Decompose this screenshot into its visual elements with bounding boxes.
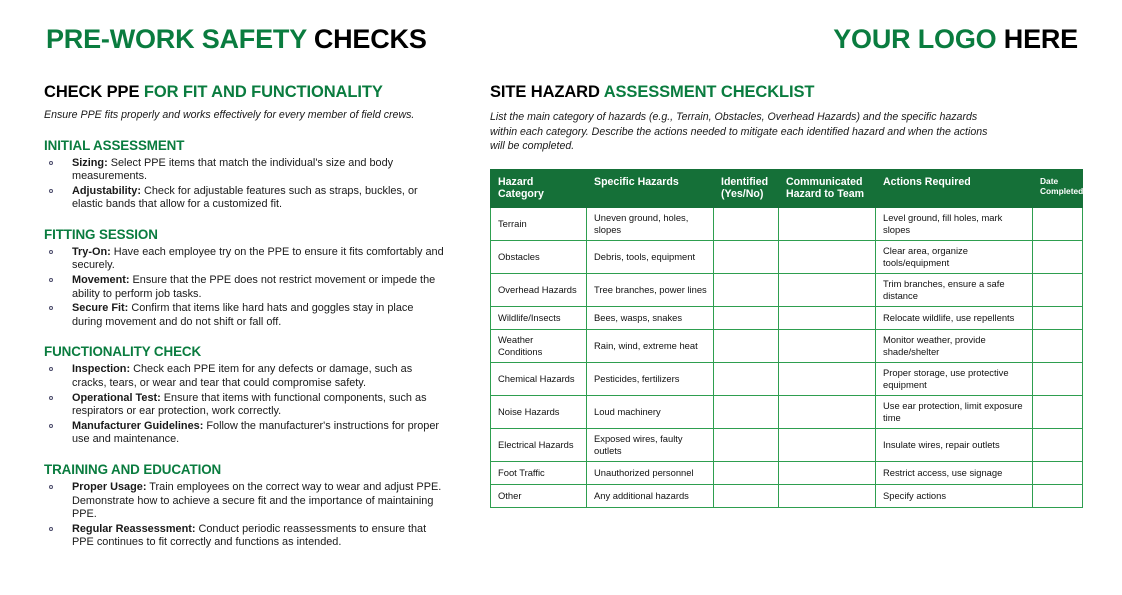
list-item-term: Sizing: [72,157,108,169]
section-initial-assessment: INITIAL ASSESSMENT Sizing: Select PPE it… [44,137,444,212]
cell-category: Other [491,484,587,507]
cell-identified[interactable] [714,273,779,306]
hazard-column-subtitle: List the main category of hazards (e.g.,… [490,110,990,154]
list-item-term: Operational Test: [72,392,161,404]
cell-actions: Level ground, fill holes, mark slopes [876,207,1033,240]
column-header-identified-line1: Identified [721,176,768,188]
cell-category: Terrain [491,207,587,240]
table-header-row: Hazard Category Specific Hazards Identif… [491,169,1083,207]
bullet-dot-icon [49,306,53,310]
list-item-term: Proper Usage: [72,481,146,493]
cell-identified[interactable] [714,240,779,273]
ppe-column-heading-black: CHECK PPE [44,83,139,101]
cell-date[interactable] [1033,329,1083,362]
cell-actions: Restrict access, use signage [876,461,1033,484]
list-item: Adjustability: Check for adjustable feat… [44,185,444,212]
column-header-identified: Identified (Yes/No) [714,169,779,207]
cell-hazards: Tree branches, power lines [587,273,714,306]
table-row: Terrain Uneven ground, holes, slopes Lev… [491,207,1083,240]
column-header-date-line2: Completed [1040,186,1083,196]
column-header-specific-hazards: Specific Hazards [587,169,714,207]
page-title-green: PRE-WORK SAFETY [46,24,307,54]
list-item-term: Secure Fit: [72,302,128,314]
cell-identified[interactable] [714,484,779,507]
column-header-date-completed: Date Completed [1033,169,1083,207]
column-header-hazard-category: Hazard Category [491,169,587,207]
table-row: Weather Conditions Rain, wind, extreme h… [491,329,1083,362]
cell-category: Noise Hazards [491,395,587,428]
section-title: FITTING SESSION [44,226,444,243]
cell-date[interactable] [1033,207,1083,240]
section-title: FUNCTIONALITY CHECK [44,343,444,360]
bullet-dot-icon [49,250,53,254]
cell-identified[interactable] [714,306,779,329]
bullet-dot-icon [49,485,53,489]
cell-communicated[interactable] [779,395,876,428]
hazard-assessment-table: Hazard Category Specific Hazards Identif… [490,169,1083,508]
cell-communicated[interactable] [779,362,876,395]
hazard-column-heading-black: SITE HAZARD [490,83,600,101]
bullet-list: Try-On: Have each employee try on the PP… [44,246,444,330]
ppe-column-subtitle: Ensure PPE fits properly and works effec… [44,108,444,123]
table-row: Wildlife/Insects Bees, wasps, snakes Rel… [491,306,1083,329]
cell-communicated[interactable] [779,273,876,306]
cell-date[interactable] [1033,395,1083,428]
bullet-dot-icon [49,527,53,531]
list-item: Regular Reassessment: Conduct periodic r… [44,523,444,550]
list-item: Operational Test: Ensure that items with… [44,392,444,419]
column-header-communicated-line1: Communicated [786,176,863,188]
bullet-dot-icon [49,424,53,428]
cell-identified[interactable] [714,461,779,484]
bullet-dot-icon [49,278,53,282]
cell-category: Chemical Hazards [491,362,587,395]
cell-communicated[interactable] [779,329,876,362]
table-row: Other Any additional hazards Specify act… [491,484,1083,507]
list-item: Manufacturer Guidelines: Follow the manu… [44,420,444,447]
cell-date[interactable] [1033,240,1083,273]
list-item: Sizing: Select PPE items that match the … [44,157,444,184]
list-item-term: Regular Reassessment: [72,523,195,535]
cell-identified[interactable] [714,428,779,461]
cell-hazards: Debris, tools, equipment [587,240,714,273]
page-title: PRE-WORK SAFETY CHECKS [46,22,427,56]
cell-category: Electrical Hazards [491,428,587,461]
cell-category: Foot Traffic [491,461,587,484]
list-item-text: Select PPE items that match the individu… [72,157,393,183]
cell-identified[interactable] [714,395,779,428]
cell-date[interactable] [1033,428,1083,461]
cell-hazards: Unauthorized personnel [587,461,714,484]
logo-placeholder-black: HERE [1004,24,1078,54]
list-item: Try-On: Have each employee try on the PP… [44,246,444,273]
table-row: Electrical Hazards Exposed wires, faulty… [491,428,1083,461]
column-header-communicated-line2: Hazard to Team [786,188,864,200]
cell-hazards: Pesticides, fertilizers [587,362,714,395]
section-training-and-education: TRAINING AND EDUCATION Proper Usage: Tra… [44,461,444,550]
table-row: Foot Traffic Unauthorized personnel Rest… [491,461,1083,484]
cell-date[interactable] [1033,306,1083,329]
column-header-actions-required: Actions Required [876,169,1033,207]
ppe-check-column: CHECK PPE FOR FIT AND FUNCTIONALITY Ensu… [44,82,444,551]
list-item-term: Adjustability: [72,185,141,197]
cell-date[interactable] [1033,273,1083,306]
cell-actions: Proper storage, use protective equipment [876,362,1033,395]
section-title: INITIAL ASSESSMENT [44,137,444,154]
bullet-dot-icon [49,396,53,400]
list-item: Movement: Ensure that the PPE does not r… [44,274,444,301]
cell-identified[interactable] [714,207,779,240]
hazard-column-heading-green: ASSESSMENT CHECKLIST [604,83,815,101]
bullet-list: Inspection: Check each PPE item for any … [44,363,444,447]
bullet-list: Sizing: Select PPE items that match the … [44,157,444,212]
cell-actions: Monitor weather, provide shade/shelter [876,329,1033,362]
cell-category: Overhead Hazards [491,273,587,306]
cell-category: Weather Conditions [491,329,587,362]
page-title-black: CHECKS [314,24,427,54]
page-banner: PRE-WORK SAFETY CHECKS YOUR LOGO HERE [0,22,1122,62]
cell-hazards: Exposed wires, faulty outlets [587,428,714,461]
bullet-dot-icon [49,189,53,193]
cell-identified[interactable] [714,362,779,395]
list-item: Proper Usage: Train employees on the cor… [44,481,444,522]
section-title: TRAINING AND EDUCATION [44,461,444,478]
cell-actions: Use ear protection, limit exposure time [876,395,1033,428]
logo-placeholder-green: YOUR LOGO [833,24,996,54]
cell-actions: Specify actions [876,484,1033,507]
cell-communicated[interactable] [779,240,876,273]
list-item-term: Inspection: [72,363,130,375]
cell-actions: Insulate wires, repair outlets [876,428,1033,461]
bullet-list: Proper Usage: Train employees on the cor… [44,481,444,550]
table-row: Obstacles Debris, tools, equipment Clear… [491,240,1083,273]
list-item-term: Movement: [72,274,129,286]
ppe-column-heading-green: FOR FIT AND FUNCTIONALITY [144,83,383,101]
cell-date[interactable] [1033,362,1083,395]
hazard-column-heading: SITE HAZARD ASSESSMENT CHECKLIST [490,82,1086,102]
cell-hazards: Uneven ground, holes, slopes [587,207,714,240]
logo-placeholder: YOUR LOGO HERE [833,22,1078,56]
cell-communicated[interactable] [779,306,876,329]
cell-actions: Trim branches, ensure a safe distance [876,273,1033,306]
table-row: Overhead Hazards Tree branches, power li… [491,273,1083,306]
cell-actions: Relocate wildlife, use repellents [876,306,1033,329]
cell-date[interactable] [1033,484,1083,507]
list-item-text: Have each employee try on the PPE to ens… [72,246,444,272]
column-header-communicated: Communicated Hazard to Team [779,169,876,207]
cell-date[interactable] [1033,461,1083,484]
table-row: Chemical Hazards Pesticides, fertilizers… [491,362,1083,395]
table-row: Noise Hazards Loud machinery Use ear pro… [491,395,1083,428]
column-header-identified-line2: (Yes/No) [721,188,763,200]
cell-category: Wildlife/Insects [491,306,587,329]
bullet-dot-icon [49,367,53,371]
cell-communicated[interactable] [779,428,876,461]
site-hazard-column: SITE HAZARD ASSESSMENT CHECKLIST List th… [490,82,1086,508]
cell-hazards: Any additional hazards [587,484,714,507]
cell-communicated[interactable] [779,461,876,484]
list-item-term: Try-On: [72,246,111,258]
list-item: Inspection: Check each PPE item for any … [44,363,444,390]
cell-hazards: Rain, wind, extreme heat [587,329,714,362]
list-item: Secure Fit: Confirm that items like hard… [44,302,444,329]
cell-category: Obstacles [491,240,587,273]
cell-hazards: Loud machinery [587,395,714,428]
cell-hazards: Bees, wasps, snakes [587,306,714,329]
cell-communicated[interactable] [779,484,876,507]
bullet-dot-icon [49,161,53,165]
section-fitting-session: FITTING SESSION Try-On: Have each employ… [44,226,444,330]
cell-actions: Clear area, organize tools/equipment [876,240,1033,273]
ppe-column-heading: CHECK PPE FOR FIT AND FUNCTIONALITY [44,82,444,102]
cell-identified[interactable] [714,329,779,362]
table-body: Terrain Uneven ground, holes, slopes Lev… [491,207,1083,507]
list-item-term: Manufacturer Guidelines: [72,420,203,432]
section-functionality-check: FUNCTIONALITY CHECK Inspection: Check ea… [44,343,444,447]
column-header-date-line1: Date [1040,176,1058,186]
cell-communicated[interactable] [779,207,876,240]
